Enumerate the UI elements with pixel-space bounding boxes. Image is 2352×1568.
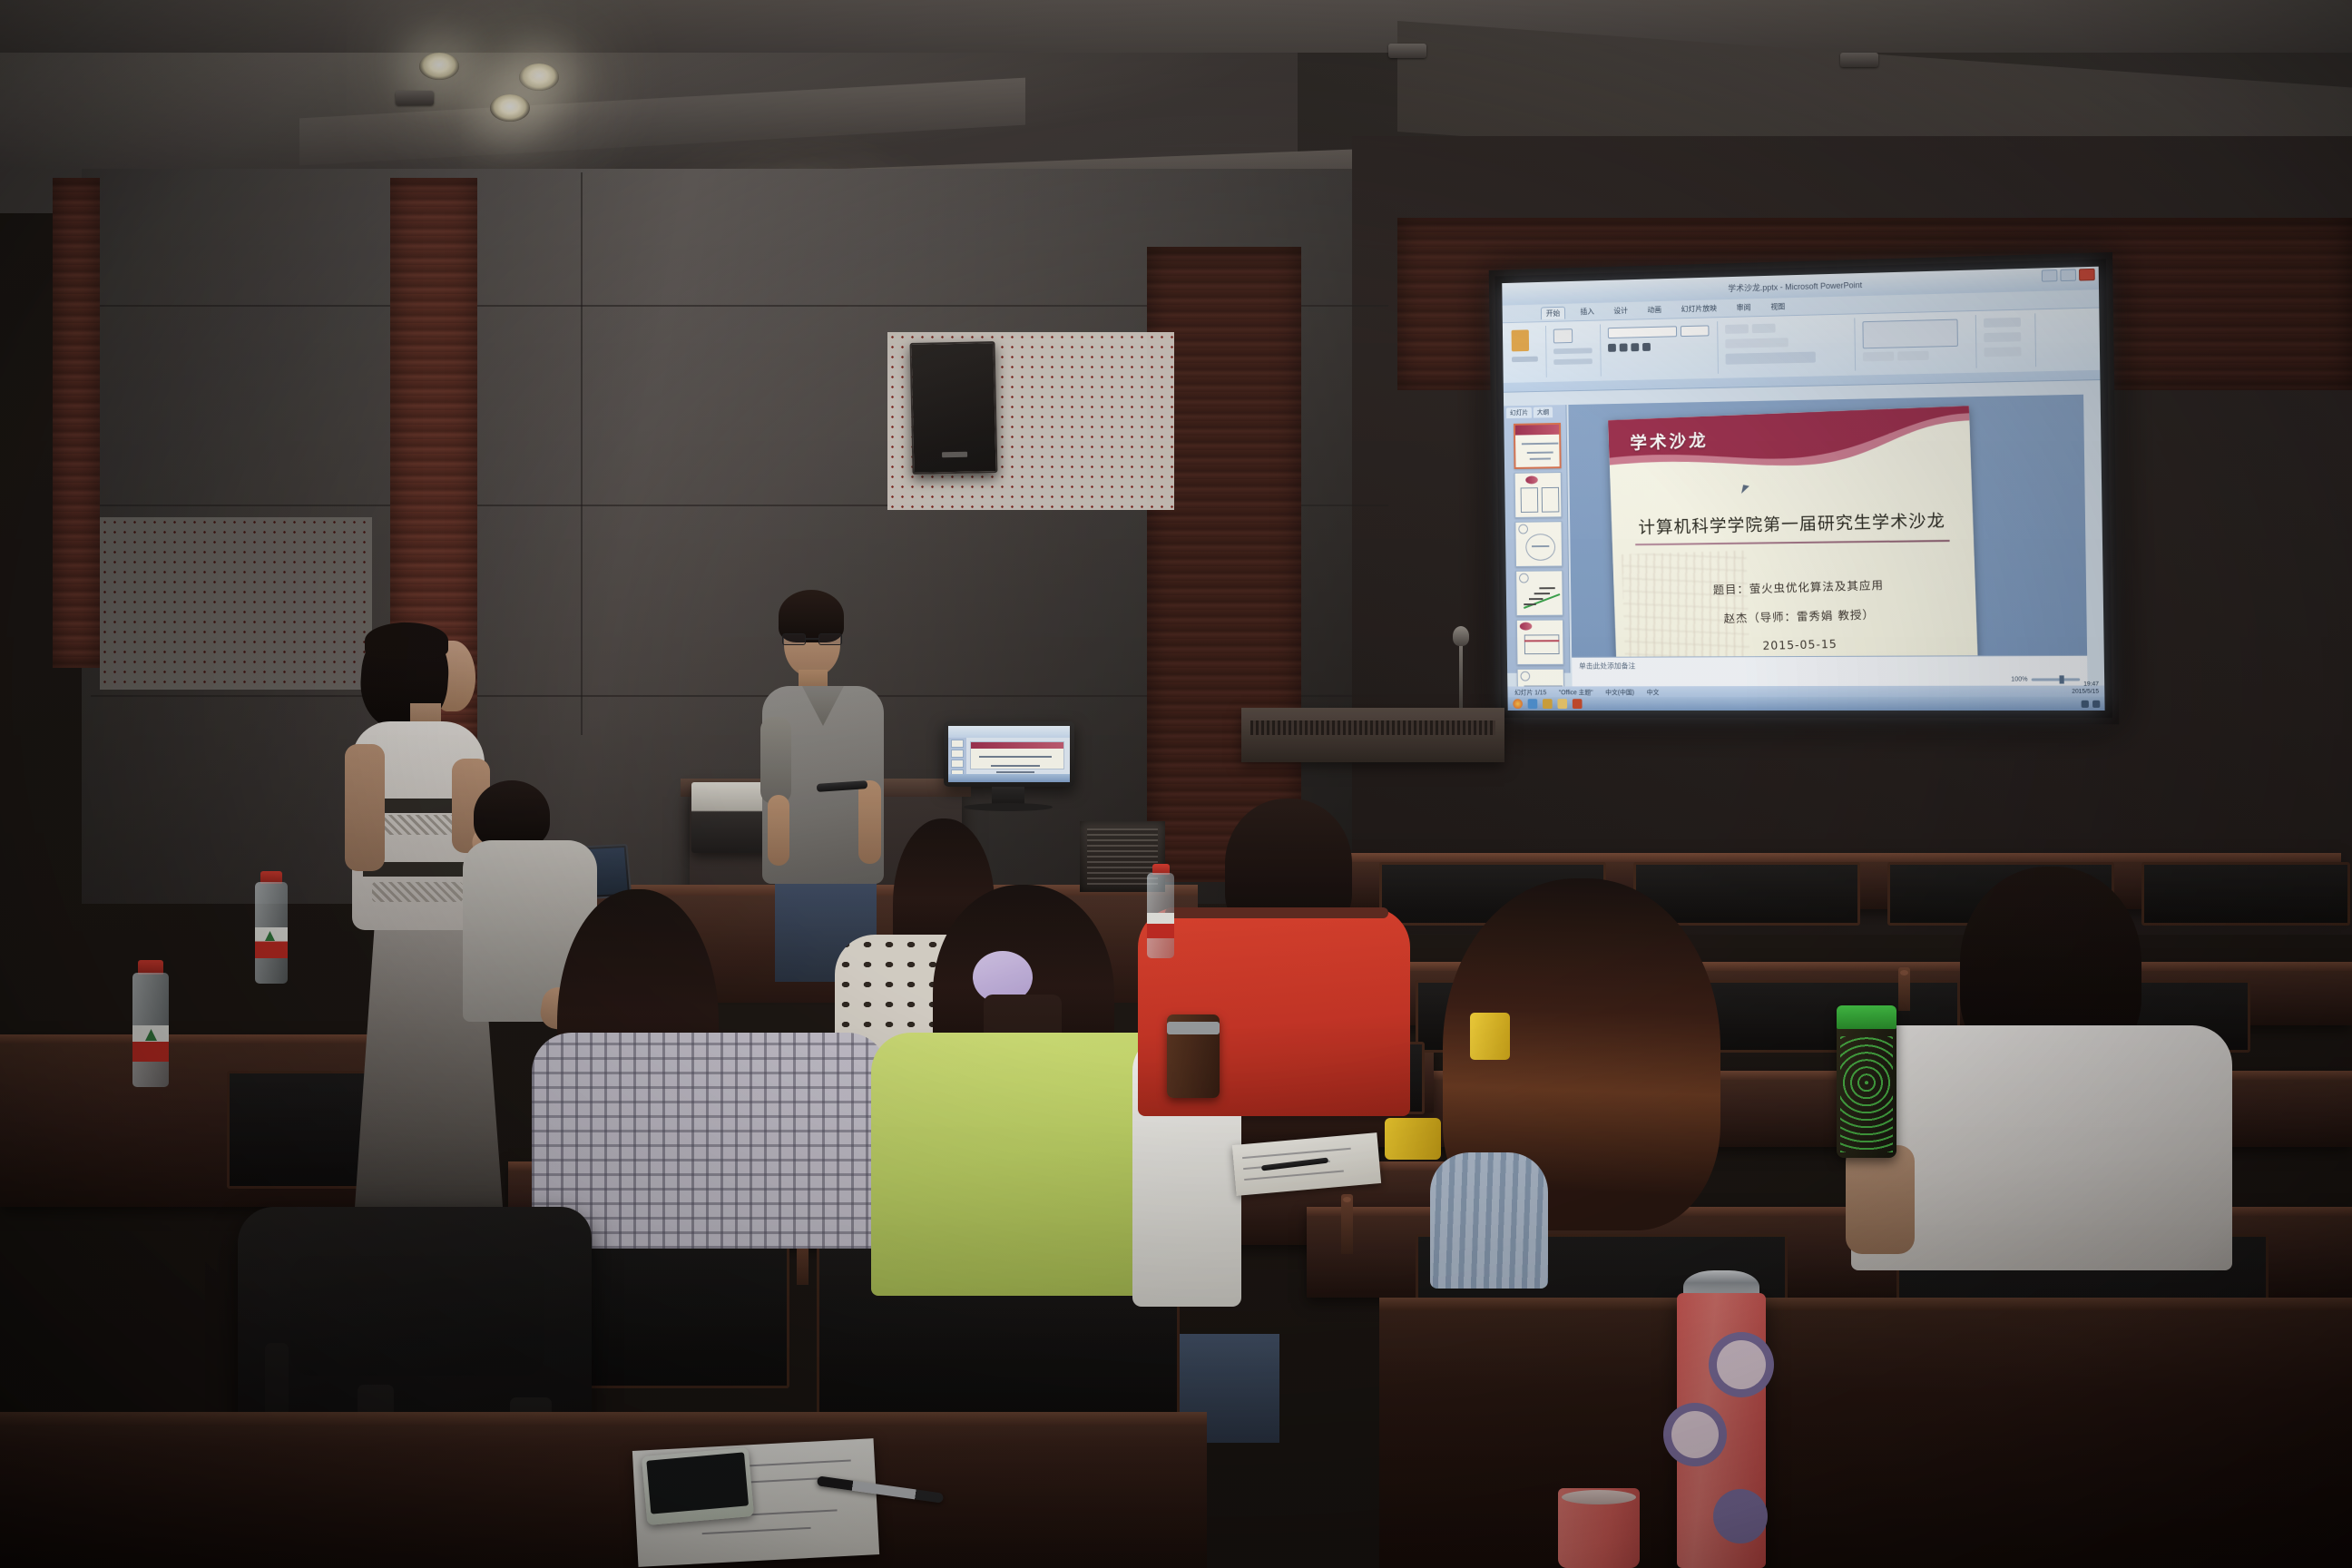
select-icon[interactable] [1984,347,2021,357]
wall-cabinet [1241,708,1504,762]
window-title: 学术沙龙.pptx - Microsoft PowerPoint [1728,279,1862,294]
thermos-circle-motif [1671,1411,1719,1458]
thumb-diagram [1525,534,1555,561]
clock-date: 2015/5/15 [2072,688,2099,695]
thumb-trend-line [1524,593,1560,609]
ie-icon[interactable] [1528,699,1538,709]
presenter-sleeve [760,717,791,804]
notes-placeholder: 单击此处添加备注 [1579,662,1635,671]
notebook-line [1242,1148,1351,1159]
windows-taskbar[interactable] [1507,697,2104,710]
tab-outline[interactable]: 大纲 [1534,407,1553,417]
slide-editing-stage[interactable]: 学术沙龙 计算机科学学院第一届研究生学术沙龙 题目：萤火虫优化算法及其应用 赵杰… [1568,395,2087,657]
ribbon-group-slides[interactable] [1548,324,1602,377]
ceiling-downlight [519,64,559,91]
slide-thumbnail[interactable]: 1 [1514,423,1562,469]
slide-thumbnail[interactable]: 2 [1514,472,1563,518]
student-arm [1846,1145,1915,1254]
tab-slides[interactable]: 幻灯片 [1506,407,1532,418]
bench-surface [1252,962,2352,971]
projected-desktop: 学术沙龙.pptx - Microsoft PowerPoint 开始 插入 设… [1502,267,2104,710]
slide-title: 计算机科学学院第一届研究生学术沙龙 [1634,507,1949,539]
pink-thermos [1677,1293,1766,1568]
red-shirt-collar-trim [1165,907,1388,918]
ceiling-vent [1388,44,1426,58]
ceiling-downlight [490,94,530,122]
thumb-line [1532,545,1549,547]
volume-icon[interactable] [2092,700,2100,707]
zoom-control[interactable]: 100% [2011,676,2080,682]
align-icons[interactable] [1725,338,1788,348]
monitor-thumbnail [951,750,964,758]
shapes-gallery[interactable] [1862,319,1958,349]
wood-wall-column [53,178,100,668]
tab-insert[interactable]: 插入 [1576,306,1599,318]
tab-home[interactable]: 开始 [1541,307,1565,319]
glasses-bridge [806,638,818,640]
speaker-brand-badge [942,452,967,458]
eyeglasses-icon [782,633,842,645]
water-bottle [252,871,290,984]
underline-icon[interactable] [1631,343,1639,351]
ribbon-group-drawing[interactable] [1857,315,1976,371]
thumb-title-band [1515,425,1559,436]
reset-icon[interactable] [1553,358,1592,365]
thumb-bar [1524,603,1535,605]
thumb-bar [1529,598,1543,600]
monitor-thumbnail-pane [948,738,966,774]
thermos-circle-motif [1717,1340,1766,1389]
paper-line [741,1477,819,1483]
seat-back [2141,862,2350,926]
monitor-slide-line [996,771,1034,773]
close-icon[interactable] [2079,269,2095,281]
glasses-right-lens [818,633,842,645]
cut-icon[interactable] [1512,357,1538,363]
ceiling-downlight [419,53,459,80]
thumb-table [1542,487,1560,513]
start-orb-icon[interactable] [1513,699,1523,709]
dark-bottle-ring [1167,1022,1220,1034]
pink-thermos-cup [1558,1488,1640,1568]
slide-banner-label: 学术沙龙 [1630,427,1709,455]
foreground-desk [0,1412,1207,1568]
seat-post [1898,967,1910,1011]
convert-smartart-icon[interactable] [1726,352,1816,365]
thumb-table [1521,487,1539,513]
ribbon-group-editing[interactable] [1978,313,2036,367]
seated-man-hair [474,780,550,849]
zoom-level-label: 100% [2011,676,2027,682]
thumb-line [1524,640,1560,642]
taskbar-clock: 19:47 2015/5/15 [2072,681,2099,696]
yellow-cup [1470,1013,1510,1060]
thumb-line [1527,452,1553,454]
acoustic-perforated-panel [100,517,372,690]
language-label: 中文(中国) [1605,688,1634,697]
notebook-line [1244,1170,1344,1180]
microphone-head [1453,626,1469,646]
projection-screen: 学术沙龙.pptx - Microsoft PowerPoint 开始 插入 设… [1489,252,2120,724]
presenter-left-arm [768,795,789,866]
wall-speaker [909,341,997,475]
thumb-title-pill [1520,622,1533,631]
foreground-desk-right-edge [1379,1298,2352,1310]
find-icon[interactable] [1984,318,2021,328]
maximize-icon[interactable] [2060,269,2076,281]
smartphone [642,1447,754,1525]
monitor-slide-band [971,742,1063,749]
pane-tab-strip[interactable]: 幻灯片 大纲 [1504,405,1566,420]
thumb-bullet [1518,524,1528,534]
glasses-left-lens [782,633,806,645]
monitor-thumbnail [951,740,964,748]
media-icon[interactable] [1543,699,1553,709]
thermos-circle-motif [1713,1489,1768,1543]
wall-seam [581,172,583,735]
presenter-monitor [944,721,1074,787]
student-checked-blouse [532,1033,887,1249]
microphone-stand [1459,635,1463,708]
keyboard-label: 中文 [1647,688,1660,697]
foreground-desk-edge [0,1412,1207,1426]
clock-time: 19:47 [2072,681,2099,688]
monitor-titlebar [948,726,1070,738]
phone-screen [646,1452,749,1514]
host-left-arm [345,744,385,871]
ribbon-command-area[interactable] [1503,308,2100,383]
zoom-slider-knob[interactable] [2059,675,2063,683]
network-icon[interactable] [2082,700,2089,707]
lecture-hall-photo: 学术沙龙.pptx - Microsoft PowerPoint 开始 插入 设… [0,0,2352,1568]
thumb-bar [1539,587,1554,589]
student-striped-top [1430,1152,1548,1289]
paper-line [742,1459,851,1466]
paste-icon[interactable] [1512,329,1530,351]
bullets-icon[interactable] [1725,324,1749,334]
bench-surface [0,1034,381,1044]
slide-title-underline [1635,540,1949,545]
thumb-line [1530,457,1551,459]
window-controls[interactable] [2042,269,2095,282]
current-slide[interactable]: 学术沙龙 计算机科学学院第一届研究生学术沙龙 题目：萤火虫优化算法及其应用 赵杰… [1608,406,1978,689]
yellow-lid [1385,1118,1441,1160]
seat-post [1341,1194,1353,1254]
shadow-icon[interactable] [1642,343,1651,351]
monitor-taskbar [948,774,1070,782]
green-thermos-cap [1837,1005,1896,1029]
new-slide-icon[interactable] [1553,328,1573,343]
ceiling-vent [396,91,434,105]
ribbon-group-clipboard[interactable] [1506,326,1547,378]
system-tray[interactable] [2082,700,2101,707]
thumb-table [1524,634,1560,654]
backpack-flap [290,1256,544,1376]
slide-thumbnail[interactable]: 3 [1514,521,1563,567]
foreground-desk-right [1379,1298,2352,1568]
monitor-slide-line [979,756,1052,758]
powerpoint-icon[interactable] [1573,699,1583,709]
ribbon-group-paragraph[interactable] [1720,318,1856,373]
monitor-thumbnail [951,759,964,768]
theme-label: "Office 主题" [1559,688,1593,697]
water-bottle [1145,864,1176,958]
font-name-box[interactable] [1608,326,1677,338]
water-bottle [129,960,172,1087]
shape-fill-icon[interactable] [1863,352,1894,362]
folder-icon[interactable] [1557,699,1567,709]
thumb-title-pill [1525,475,1538,484]
thumb-bar [1534,593,1550,594]
layout-icon[interactable] [1553,348,1592,354]
presenter-right-arm [858,780,881,864]
replace-icon[interactable] [1984,332,2021,342]
tab-design[interactable]: 设计 [1609,305,1632,318]
tab-review[interactable]: 审阅 [1732,301,1756,315]
slide-counter: 幻灯片 1/15 [1514,688,1546,697]
slide-thumbnail-pane[interactable]: 幻灯片 大纲 1 2 3 [1504,405,1570,673]
minimize-icon[interactable] [2042,269,2058,282]
green-thermos [1837,1005,1896,1158]
host-top-lace [372,815,463,835]
ceiling-edge-strip [0,0,2352,53]
bottle-label [1147,913,1174,938]
host-top-lace [372,882,463,902]
bold-icon[interactable] [1608,344,1616,352]
ceiling-vent [1840,53,1878,67]
monitor-slide [970,741,1064,769]
monitor-screen [948,726,1070,782]
bench-surface [1343,853,2341,862]
ribbon-group-font[interactable] [1602,321,1719,376]
host-hair-fringe [365,622,448,659]
numbering-icon[interactable] [1752,324,1776,334]
thumb-bullet [1520,671,1530,681]
tab-view[interactable]: 视图 [1766,300,1789,314]
tab-slideshow[interactable]: 幻灯片放映 [1677,302,1721,316]
shape-outline-icon[interactable] [1897,351,1929,361]
powerpoint-ribbon[interactable]: 开始 插入 设计 动画 幻灯片放映 审阅 视图 [1503,289,2101,393]
mouse-cursor-icon [1741,485,1749,495]
monitor-slide-line [991,765,1040,767]
thumb-line [1522,443,1558,445]
paper-line [702,1527,811,1534]
tab-animation[interactable]: 动画 [1642,304,1666,318]
bottle-label [255,927,288,958]
slide-thumbnail[interactable]: 4 [1515,570,1563,616]
seat-back [227,1071,372,1189]
slide-thumbnail[interactable]: 5 [1516,620,1564,665]
font-size-box[interactable] [1681,325,1710,337]
italic-icon[interactable] [1620,343,1628,351]
thumb-bullet [1519,573,1529,583]
monitor-base [964,803,1053,811]
green-thermos-pattern [1840,1036,1893,1152]
